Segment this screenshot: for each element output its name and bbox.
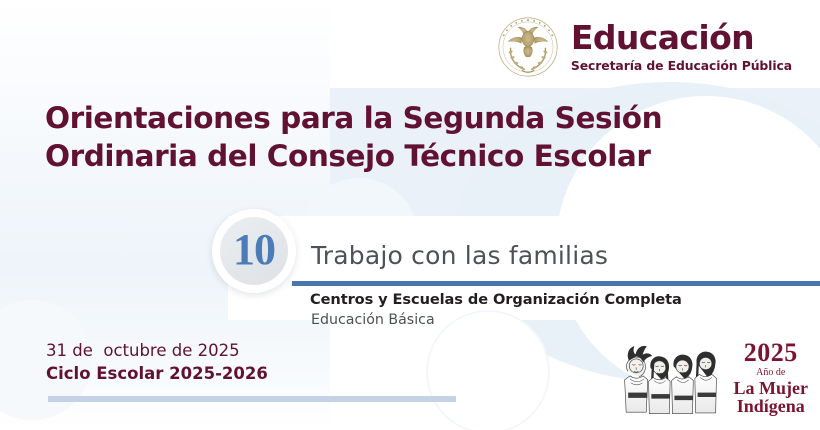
sep-logo: Educación Secretaría de Educación Públic… [497,16,792,78]
school-cycle: Ciclo Escolar 2025-2026 [46,364,268,383]
session-date: 31 de octubre de 2025 [46,341,240,360]
sep-logo-wordmark: Educación Secretaría de Educación Públic… [571,21,792,73]
year-2025-logo: 2025 Año de La Mujer Indígena [620,340,808,418]
sep-subtitle: Secretaría de Educación Pública [571,58,792,73]
indigenous-women-illustration-icon [620,340,728,418]
session-number: 10 [233,228,275,272]
page-title: Orientaciones para la Segunda Sesión Ord… [45,99,685,176]
background-disc-bottom [428,312,548,430]
year-logo-ano-de: Año de [756,368,785,378]
presentation-slide: Educación Secretaría de Educación Públic… [0,0,820,430]
year-logo-line-1: La Mujer [734,379,808,397]
page-title-line-2: Ordinaria del Consejo Técnico Escolar [45,137,685,175]
mexican-coat-of-arms-icon [497,16,559,78]
scope-heading: Centros y Escuelas de Organización Compl… [310,291,682,308]
grey-divider [48,396,456,402]
year-logo-year: 2025 [744,340,798,366]
background-circle-bottom-left [0,300,92,420]
sep-title: Educación [571,21,792,55]
year-logo-wordmark: 2025 Año de La Mujer Indígena [734,340,808,418]
session-number-badge-inner: 10 [220,217,288,285]
session-number-badge: 10 [212,209,296,293]
session-title: Trabajo con las familias [311,241,608,270]
education-level: Educación Básica [311,312,435,328]
page-title-line-1: Orientaciones para la Segunda Sesión [45,101,662,135]
background-circle-center [300,178,418,296]
year-logo-line-2: Indígena [737,397,805,415]
blue-divider [292,281,820,286]
